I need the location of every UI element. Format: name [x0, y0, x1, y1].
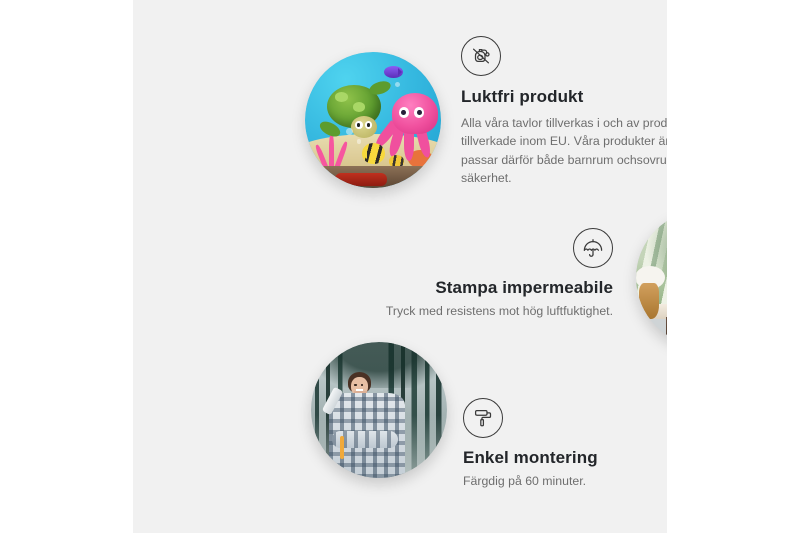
- feature-body: Färgdig på 60 minuter.: [463, 472, 667, 490]
- product-photo-bathroom[interactable]: [636, 210, 667, 346]
- fish-icon: [384, 66, 403, 78]
- sea-floor: [305, 166, 441, 188]
- feature-body: Tryck med resistens mot hög luftfuktighe…: [321, 302, 613, 320]
- fish-icon: [362, 143, 385, 163]
- coral-icon: [317, 134, 352, 169]
- screenshot-stage: Luktfri produkt Alla våra tavlor tillver…: [0, 0, 800, 533]
- sea-life-artwork: [305, 52, 441, 188]
- product-photo-forest-decorator[interactable]: [311, 342, 447, 478]
- product-feature-panel: Luktfri produkt Alla våra tavlor tillver…: [133, 0, 667, 533]
- bubble: [346, 128, 353, 135]
- forest-artwork: [311, 342, 447, 478]
- feature-water-resistant: Stampa impermeabile Tryck med resistens …: [321, 228, 613, 320]
- turtle-head: [351, 116, 377, 138]
- product-photo-sea-life[interactable]: [305, 52, 441, 188]
- vase: [639, 283, 659, 318]
- paint-roller-icon: [463, 398, 503, 438]
- feature-body: Alla våra tavlor tillverkas i och av pro…: [461, 114, 667, 187]
- feature-title: Luktfri produkt: [461, 86, 667, 107]
- feature-odour-free: Luktfri produkt Alla våra tavlor tillver…: [461, 36, 667, 187]
- octopus-tentacle: [404, 131, 414, 161]
- decorator-person: [327, 372, 406, 478]
- no-fragrance-icon: [461, 36, 501, 76]
- umbrella-icon: [573, 228, 613, 268]
- feature-title: Enkel montering: [463, 447, 667, 468]
- feature-title: Stampa impermeabile: [321, 277, 613, 298]
- paint-roller-handle: [340, 436, 344, 459]
- bathroom-artwork: [636, 210, 667, 346]
- octopus-head: [392, 93, 438, 134]
- vanity-cabinet: [666, 317, 667, 346]
- feature-easy-mounting: Enkel montering Färgdig på 60 minuter.: [463, 398, 667, 490]
